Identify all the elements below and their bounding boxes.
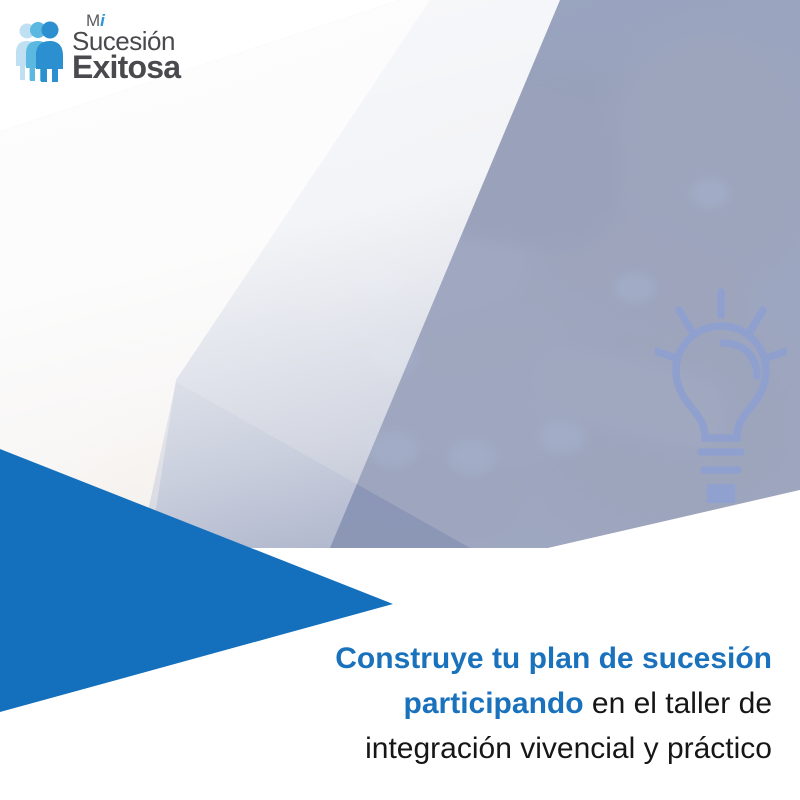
headline-line-1-accent: Construye tu plan de sucesión <box>335 642 772 675</box>
brand-wordmark: Mi Sucesión Exitosa <box>72 12 217 90</box>
brand-logo[interactable]: Mi Sucesión Exitosa <box>14 12 214 90</box>
headline-line-2-accent: participando <box>404 687 584 720</box>
headline-line-2: participando en el taller de <box>190 681 772 726</box>
three-people-icon <box>14 20 72 82</box>
lightbulb-icon <box>655 288 787 503</box>
headline-block: Construye tu plan de sucesión participan… <box>190 636 772 771</box>
logo-word-exitosa: Exitosa <box>72 50 180 84</box>
poster-canvas: Mi Sucesión Exitosa Construye tu plan de… <box>0 0 800 800</box>
headline-line-1: Construye tu plan de sucesión <box>190 636 772 681</box>
headline-line-3: integración vivencial y práctico <box>190 726 772 771</box>
headline-line-2-rest: en el taller de <box>584 687 772 720</box>
